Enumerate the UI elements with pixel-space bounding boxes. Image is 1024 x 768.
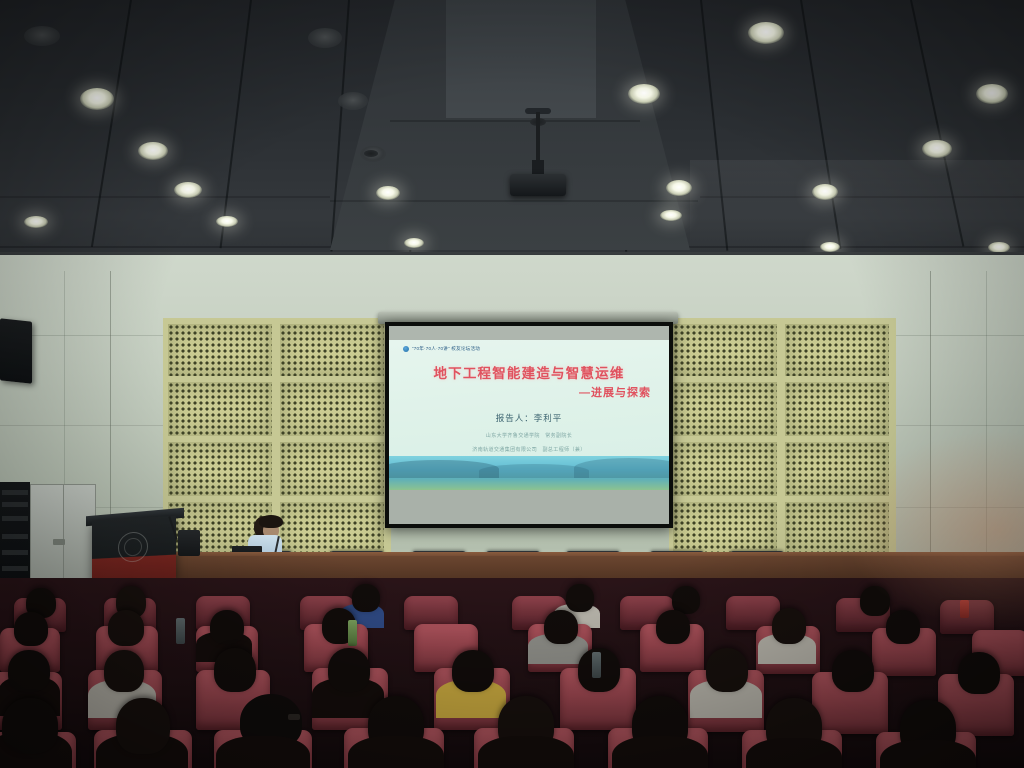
- ceiling-recess-inner: [446, 0, 596, 118]
- downlight-icon: [660, 210, 682, 221]
- acoustic-panel: [673, 442, 777, 496]
- downlight-icon: [338, 92, 368, 110]
- acoustic-panel: [785, 502, 889, 558]
- downlight-icon: [24, 26, 60, 46]
- slide-title: 地下工程智能建造与智慧运维: [389, 362, 669, 382]
- acoustic-panel: [280, 442, 384, 496]
- acoustic-panel: [280, 502, 384, 558]
- downlight-icon: [376, 186, 400, 200]
- downlight-icon: [80, 88, 114, 110]
- downlight-icon: [812, 184, 838, 200]
- water-bottle: [176, 618, 185, 644]
- acoustic-panel: [168, 324, 272, 376]
- downlight-icon: [138, 142, 168, 160]
- confidence-monitor: [178, 530, 200, 556]
- acoustic-panel: [280, 324, 384, 376]
- downlight-icon: [820, 242, 840, 252]
- downlight-icon: [174, 182, 202, 198]
- acoustic-panel: [673, 382, 777, 436]
- slide-affiliation-2: 济南轨道交通集团有限公司 副总工程师（兼）: [389, 446, 669, 453]
- beverage-can: [960, 600, 969, 618]
- acoustic-panel: [673, 324, 777, 376]
- acoustic-panel: [280, 382, 384, 436]
- screen-bottom-band: [389, 490, 669, 524]
- screen-top-band: [389, 326, 669, 340]
- equipment-cabinet: [30, 484, 96, 580]
- slide-subtitle: —进展与探索: [579, 384, 651, 400]
- slide-landscape-image: [389, 456, 669, 490]
- av-equipment-rack: [0, 482, 30, 582]
- acoustic-panel: [168, 382, 272, 436]
- badge-dot-icon: [403, 346, 409, 352]
- downlight-icon: [748, 22, 784, 44]
- downlight-icon: [404, 238, 424, 248]
- downlight-icon: [24, 216, 48, 228]
- acoustic-panel: [168, 442, 272, 496]
- slide-presenter: 报告人：李利平: [389, 412, 669, 424]
- downlight-icon: [216, 216, 238, 227]
- slide-badge-label: “70年·70人·70讲” 校友论坛活动: [412, 346, 480, 352]
- sprinkler-icon: [364, 150, 378, 157]
- downlight-icon: [666, 180, 692, 196]
- slide: “70年·70人·70讲” 校友论坛活动 地下工程智能建造与智慧运维 —进展与探…: [389, 340, 669, 490]
- slide-badge: “70年·70人·70讲” 校友论坛活动: [403, 346, 480, 352]
- water-bottle: [592, 652, 601, 678]
- acoustic-panel: [785, 324, 889, 376]
- auditorium-scene: “70年·70人·70讲” 校友论坛活动 地下工程智能建造与智慧运维 —进展与探…: [0, 0, 1024, 768]
- lectern: [92, 516, 176, 582]
- downlight-icon: [628, 84, 660, 104]
- downlight-icon: [976, 84, 1008, 104]
- slide-affiliation-1: 山东大学齐鲁交通学院 常务副院长: [389, 432, 669, 439]
- acoustic-panel: [673, 502, 777, 558]
- downlight-icon: [922, 140, 952, 158]
- water-bottle: [348, 620, 357, 646]
- acoustic-panel: [785, 442, 889, 496]
- acoustic-panel: [785, 382, 889, 436]
- audience-area: [0, 578, 1024, 768]
- projection-screen: “70年·70人·70讲” 校友论坛活动 地下工程智能建造与智慧运维 —进展与探…: [389, 326, 669, 524]
- university-emblem-icon: [118, 531, 148, 563]
- ceiling-projector: [510, 160, 566, 196]
- downlight-icon: [308, 28, 342, 48]
- wall-mounted-loudspeaker: [0, 318, 32, 383]
